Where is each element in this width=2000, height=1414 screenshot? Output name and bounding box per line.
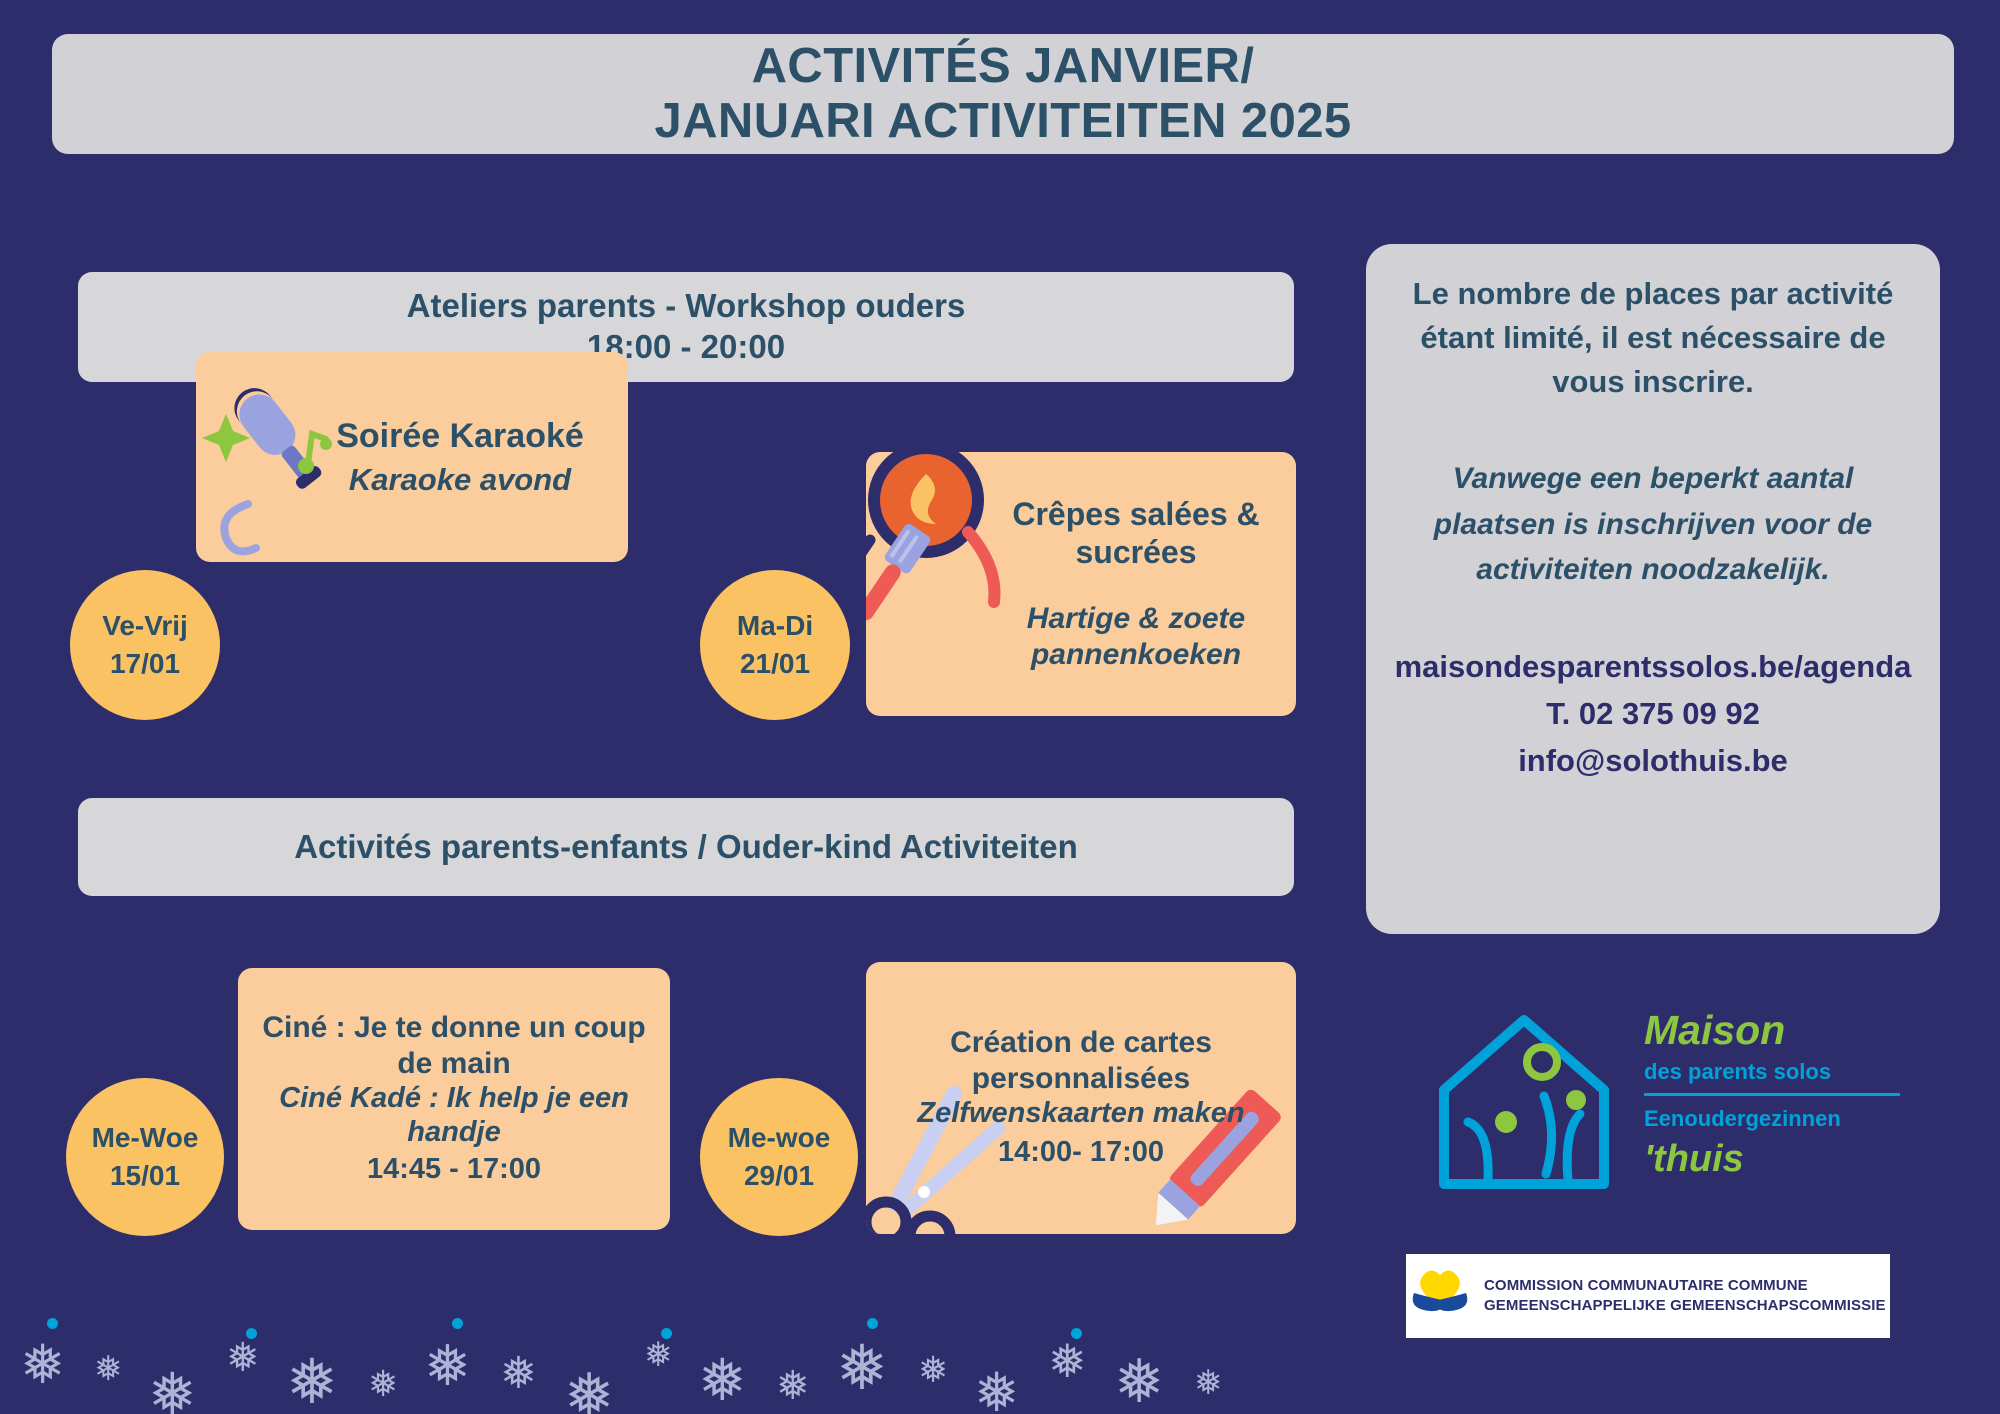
logo-text-block: Maison des parents solos Eenoudergezinne…	[1644, 1010, 1914, 1181]
logo-subtitle-fr: des parents solos	[1644, 1059, 1914, 1085]
badge-date: 15/01	[110, 1157, 180, 1195]
snowflake-icon: ❅	[286, 1352, 338, 1414]
section-header-family-title: Activités parents-enfants / Ouder-kind A…	[294, 828, 1078, 866]
email-link[interactable]: info@solothuis.be	[1395, 737, 1912, 784]
badge-day: Ve-Vrij	[102, 607, 188, 645]
logo-divider	[1644, 1093, 1900, 1096]
activity-date-badge-karaoke[interactable]: Ve-Vrij 17/01	[70, 570, 220, 720]
snowflake-icon: ❅	[918, 1352, 948, 1388]
snowflake-icon: ❅	[1114, 1352, 1164, 1412]
cocom-logo: COMMISSION COMMUNAUTAIRE COMMUNE GEMEENS…	[1406, 1254, 1890, 1338]
activity-time: 14:00- 17:00	[871, 1134, 1291, 1170]
snowflake-icon: ❅	[1194, 1366, 1223, 1400]
badge-date: 17/01	[110, 645, 180, 683]
badge-day: Ma-Di	[737, 607, 813, 645]
snowflake-icon: ❅	[776, 1366, 810, 1406]
section-header-family: Activités parents-enfants / Ouder-kind A…	[78, 798, 1294, 896]
logo-subtitle-nl: Eenoudergezinnen	[1644, 1106, 1914, 1132]
brand-logo: Maison des parents solos Eenoudergezinne…	[1424, 1000, 1904, 1210]
info-panel: Le nombre de places par activité étant l…	[1366, 244, 1940, 934]
logo-thuis-word: 'thuis	[1644, 1138, 1914, 1181]
snow-dot-icon	[452, 1318, 463, 1329]
cocom-line-nl: GEMEENSCHAPPELIJKE GEMEENSCHAPSCOMMISSIE	[1484, 1296, 1886, 1316]
snow-dot-icon	[47, 1318, 58, 1329]
activity-title-nl: Ciné Kadé : Ik help je een handje	[244, 1081, 664, 1149]
snowflake-icon: ❅	[644, 1338, 673, 1372]
activity-title-fr: Création de cartes personnalisées	[871, 1025, 1291, 1096]
title-line-nl: JANUARI ACTIVITEITEN 2025	[654, 94, 1351, 149]
badge-date: 29/01	[744, 1157, 814, 1195]
poster-root: ACTIVITÉS JANVIER/ JANUARI ACTIVITEITEN …	[0, 0, 2000, 1414]
activity-title-fr: Crêpes salées & sucrées	[981, 496, 1291, 572]
snowflake-icon: ❅	[974, 1366, 1019, 1414]
snowflake-icon: ❅	[500, 1352, 537, 1396]
badge-date: 21/01	[740, 645, 810, 683]
activity-card-cine-text: Ciné : Je te donne un coup de main Ciné …	[244, 1010, 664, 1187]
snowflake-icon: ❅	[424, 1338, 471, 1394]
phone-number[interactable]: T. 02 375 09 92	[1395, 690, 1912, 737]
snow-dot-icon	[246, 1328, 257, 1339]
activity-card-karaoke-text: Soirée Karaoké Karaoke avond	[295, 416, 625, 499]
activity-card-crepes[interactable]: Crêpes salées & sucrées Hartige & zoete …	[866, 452, 1296, 716]
activity-card-karaoke[interactable]: Soirée Karaoké Karaoke avond	[196, 352, 628, 562]
snowflake-decoration: ❅❅❅❅❅❅❅❅❅❅❅❅❅❅❅❅❅❅	[0, 1304, 1380, 1414]
activity-title-nl: Zelfwenskaarten maken	[871, 1096, 1291, 1130]
info-text-fr: Le nombre de places par activité étant l…	[1388, 272, 1918, 404]
snowflake-icon: ❅	[1048, 1338, 1087, 1384]
info-contact: maisondesparentssolos.be/agenda T. 02 37…	[1395, 643, 1912, 784]
snow-dot-icon	[1071, 1328, 1082, 1339]
snowflake-icon: ❅	[94, 1352, 123, 1386]
snowflake-icon: ❅	[564, 1366, 614, 1414]
cocom-text: COMMISSION COMMUNAUTAIRE COMMUNE GEMEENS…	[1484, 1276, 1886, 1317]
snow-dot-icon	[661, 1328, 672, 1339]
website-link[interactable]: maisondesparentssolos.be/agenda	[1395, 643, 1912, 690]
snow-dot-icon	[867, 1318, 878, 1329]
activity-time: 14:45 - 17:00	[244, 1151, 664, 1187]
activity-card-cartes[interactable]: Création de cartes personnalisées Zelfwe…	[866, 962, 1296, 1234]
snowflake-icon: ❅	[698, 1352, 747, 1410]
badge-day: Me-woe	[728, 1119, 831, 1157]
title-banner: ACTIVITÉS JANVIER/ JANUARI ACTIVITEITEN …	[52, 34, 1954, 154]
section-header-workshop-title: Ateliers parents - Workshop ouders	[407, 286, 966, 327]
badge-day: Me-Woe	[92, 1119, 199, 1157]
logo-brand-name: Maison	[1644, 1010, 1914, 1051]
snowflake-icon: ❅	[20, 1338, 65, 1392]
iris-heart-icon	[1406, 1265, 1474, 1327]
house-with-people-icon	[1424, 1004, 1624, 1204]
activity-title-nl: Karaoke avond	[295, 462, 625, 499]
activity-title-fr: Ciné : Je te donne un coup de main	[244, 1010, 664, 1081]
snowflake-icon: ❅	[836, 1338, 888, 1400]
info-text-nl: Vanwege een beperkt aantal plaatsen is i…	[1388, 456, 1918, 593]
snowflake-icon: ❅	[148, 1366, 197, 1414]
activity-date-badge-cine[interactable]: Me-Woe 15/01	[66, 1078, 224, 1236]
activity-card-cine[interactable]: Ciné : Je te donne un coup de main Ciné …	[238, 968, 670, 1230]
snowflake-icon: ❅	[368, 1366, 398, 1402]
activity-date-badge-cartes[interactable]: Me-woe 29/01	[700, 1078, 858, 1236]
title-line-fr: ACTIVITÉS JANVIER/	[752, 39, 1255, 94]
activity-title-fr: Soirée Karaoké	[295, 416, 625, 456]
cocom-line-fr: COMMISSION COMMUNAUTAIRE COMMUNE	[1484, 1276, 1886, 1296]
activity-title-nl: Hartige & zoete pannenkoeken	[981, 601, 1291, 672]
activity-date-badge-crepes[interactable]: Ma-Di 21/01	[700, 570, 850, 720]
snowflake-icon: ❅	[226, 1338, 260, 1378]
activity-card-cartes-text: Création de cartes personnalisées Zelfwe…	[871, 1025, 1291, 1170]
activity-card-crepes-text: Crêpes salées & sucrées Hartige & zoete …	[981, 496, 1291, 672]
